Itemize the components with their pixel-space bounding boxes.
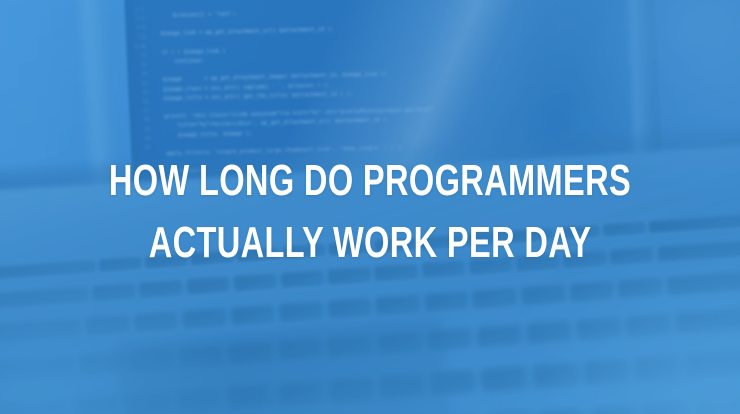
keyboard-key [278, 301, 324, 322]
depth-of-field-bottom-left [0, 214, 240, 414]
keyboard-key [465, 231, 509, 247]
keyboard-key [327, 298, 373, 319]
keyboard-key [468, 257, 513, 276]
keyboard-key [280, 270, 325, 289]
keyboard-key [282, 244, 326, 260]
keyboard-key [236, 247, 280, 263]
keyboard-key [424, 291, 470, 312]
keyboard-key [648, 214, 740, 234]
keyboard-key [419, 234, 463, 250]
keyboard-key [374, 263, 419, 282]
keyboard-key [328, 240, 372, 256]
article-hero-banner: 1 2 3 4 5 6 7 8 9 10 11 12 13 14 15 16 1… [0, 0, 740, 414]
keyboard-key [373, 237, 417, 253]
keyboard-key [421, 260, 466, 279]
keyboard-key [375, 294, 421, 315]
depth-of-field-bottom-right [510, 234, 740, 414]
background-photo: 1 2 3 4 5 6 7 8 9 10 11 12 13 14 15 16 1… [0, 0, 740, 414]
keyboard-key [327, 266, 372, 285]
depth-of-field-top-right [540, 0, 740, 200]
